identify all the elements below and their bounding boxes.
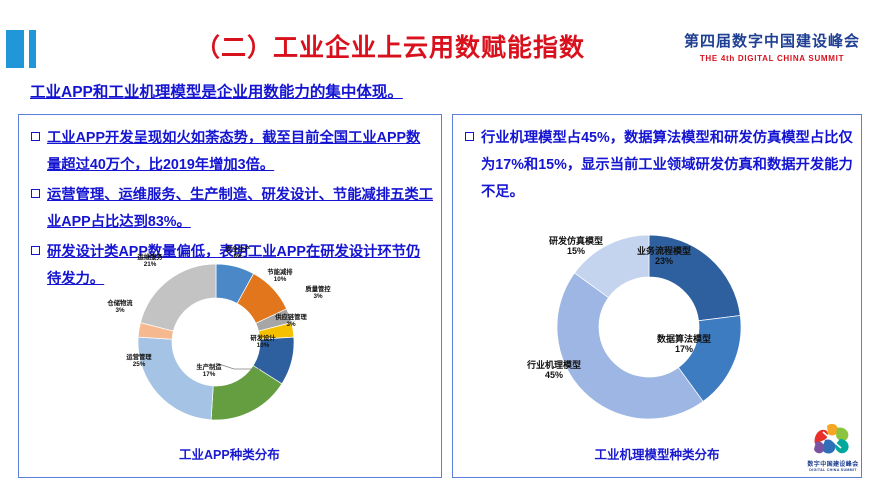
square-bullet-icon xyxy=(31,132,40,141)
slice-label-yanfasheji: 研发设计 10% xyxy=(237,336,289,350)
left-content-panel: 工业APP开发呈现如火如荼态势，截至目前全国工业APP数量超过40万个，比201… xyxy=(18,114,442,478)
accent-bar-wide xyxy=(6,30,24,68)
square-bullet-icon xyxy=(31,189,40,198)
industrial-app-donut-chart: 运维服务 21% 安全生产 8% 节能减排 10% 质量管控 3% 供应链管理 … xyxy=(19,243,441,469)
slice-label-zhiliangguankong: 质量管控 3% xyxy=(291,287,345,301)
slice-label-weixiufuwu: 运维服务 21% xyxy=(120,255,180,269)
slide-header: （二）工业企业上云用数赋能指数 第四届数字中国建设峰会 THE 4th DIGI… xyxy=(0,0,877,78)
industrial-app-donut-svg xyxy=(20,243,440,441)
list-item: 工业APP开发呈现如火如荼态势，截至目前全国工业APP数量超过40万个，比201… xyxy=(29,125,433,179)
summit-logo: 第四届数字中国建设峰会 THE 4th DIGITAL CHINA SUMMIT xyxy=(678,30,866,63)
subtitle: 工业APP和工业机理模型是企业用数能力的集中体现。 xyxy=(30,80,403,102)
slice-value: 23% xyxy=(621,257,707,267)
slice-label-gongyinglianguanli: 供应链管理 3% xyxy=(259,315,323,329)
slice-value: 10% xyxy=(256,277,304,284)
slice-label-cangchuwuliu: 仓储物流 3% xyxy=(95,301,145,315)
slice-value: 15% xyxy=(533,247,619,257)
slice-value: 17% xyxy=(182,372,236,379)
list-item-label: 工业APP开发呈现如火如荼态势，截至目前全国工业APP数量超过40万个，比201… xyxy=(47,125,433,179)
summit-logo-en: THE 4th DIGITAL CHINA SUMMIT xyxy=(678,54,866,63)
slice-value: 3% xyxy=(259,322,323,329)
accent-bar-thin xyxy=(29,30,36,68)
list-item: 运营管理、运维服务、生产制造、研发设计、节能减排五类工业APP占比达到83%。 xyxy=(29,182,433,236)
list-item-label: 运营管理、运维服务、生产制造、研发设计、节能减排五类工业APP占比达到83%。 xyxy=(47,182,433,236)
slice-value: 3% xyxy=(95,308,145,315)
chart-caption-left: 工业APP种类分布 xyxy=(19,444,441,463)
list-item: 行业机理模型占45%，数据算法模型和研发仿真模型占比仅为17%和15%，显示当前… xyxy=(463,125,853,206)
corner-logo-en: DIGITAL CHINA SUMMIT xyxy=(800,468,866,472)
slice-value: 25% xyxy=(112,362,166,369)
corner-summit-logo: 数字中国建设峰会 DIGITAL CHINA SUMMIT xyxy=(800,418,866,482)
slice-label-hangyejili: 行业机理模型 45% xyxy=(509,361,599,380)
right-bullet-list: 行业机理模型占45%，数据算法模型和研发仿真模型占比仅为17%和15%，显示当前… xyxy=(463,125,853,209)
slice-label-anquanshengchan: 安全生产 8% xyxy=(214,247,262,261)
slice-label-yanfafangzhen: 研发仿真模型 15% xyxy=(533,237,619,256)
slice-value: 45% xyxy=(509,371,599,381)
summit-logo-cn: 第四届数字中国建设峰会 xyxy=(678,30,866,51)
donut-slice xyxy=(140,264,216,331)
list-item-label: 行业机理模型占45%，数据算法模型和研发仿真模型占比仅为17%和15%，显示当前… xyxy=(481,125,853,206)
slice-label-shengchanzhizao: 生产制造 17% xyxy=(182,365,236,379)
square-bullet-icon xyxy=(465,132,474,141)
slice-label-yunyingguanli: 运营管理 25% xyxy=(112,355,166,369)
slice-value: 17% xyxy=(639,345,729,355)
slice-value: 10% xyxy=(237,343,289,350)
slice-value: 3% xyxy=(291,294,345,301)
slice-value: 8% xyxy=(214,254,262,261)
page-title: （二）工业企业上云用数赋能指数 xyxy=(120,28,660,64)
slice-label-shujusuanfa: 数据算法模型 17% xyxy=(639,335,729,354)
corner-logo-cn: 数字中国建设峰会 xyxy=(800,459,866,468)
slice-value: 21% xyxy=(120,262,180,269)
slice-label-yewuliucheng: 业务流程模型 23% xyxy=(621,247,707,266)
digital-china-summit-mark-icon xyxy=(807,418,859,458)
slice-label-jienengjianpai: 节能减排 10% xyxy=(256,270,304,284)
